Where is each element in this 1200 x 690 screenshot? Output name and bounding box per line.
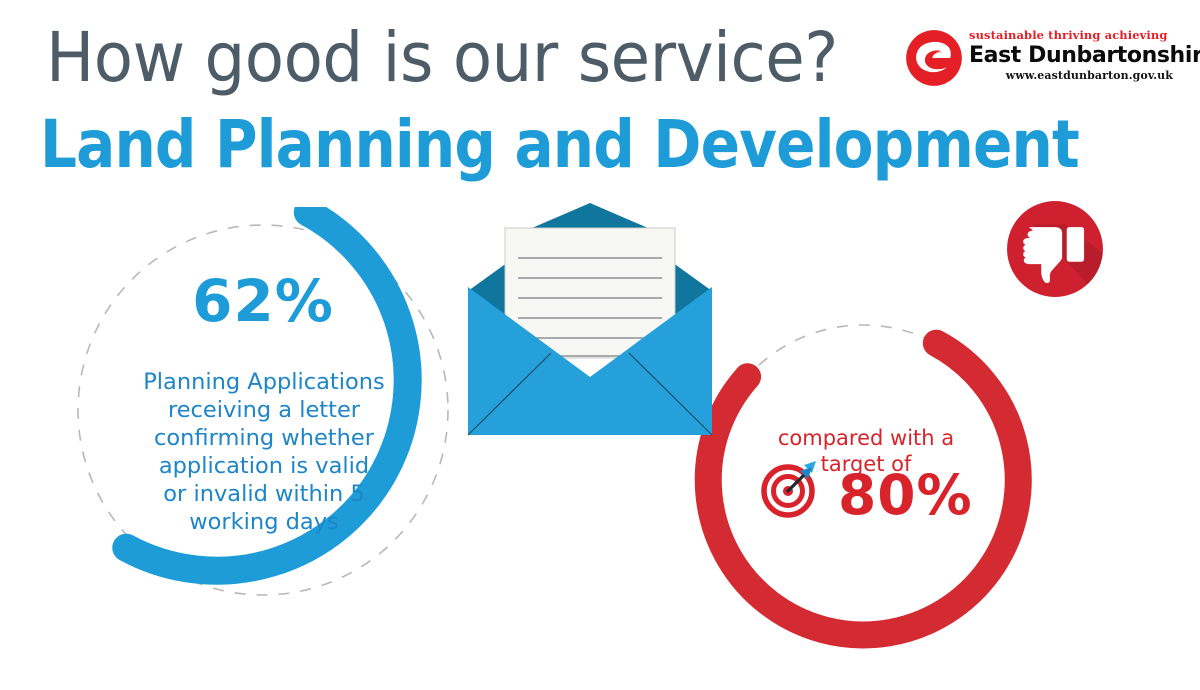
logo-council-name: East Dunbartonshire Council	[969, 43, 1200, 68]
gauge-left-percent: 62%	[110, 272, 416, 330]
open-envelope-with-letter-icon	[455, 195, 725, 465]
compare-line: compared with a	[752, 425, 980, 451]
logo-tagline: sustainable thriving achieving	[969, 28, 1168, 42]
dartboard-with-dart-icon	[760, 457, 822, 519]
gauge-right-percent: 80%	[838, 468, 988, 523]
desc-line: receiving a letter	[120, 396, 408, 424]
desc-line: Planning Applications	[120, 368, 408, 396]
desc-line: working days	[120, 508, 408, 536]
infographic-canvas: How good is our service? Land Planning a…	[0, 0, 1200, 690]
council-logo: sustainable thriving achieving East Dunb…	[905, 26, 1173, 88]
thumbs-down-icon	[1004, 198, 1106, 300]
logo-website-url: www.eastdunbarton.gov.uk	[969, 69, 1173, 82]
page-subtitle: Land Planning and Development	[40, 112, 1079, 178]
east-dunbartonshire-e-logomark-icon	[905, 29, 963, 87]
desc-line: or invalid within 5	[120, 480, 408, 508]
gauge-left-description: Planning Applications receiving a letter…	[120, 368, 408, 536]
desc-line: confirming whether	[120, 424, 408, 452]
desc-line: application is valid	[120, 452, 408, 480]
page-title: How good is our service?	[46, 24, 838, 93]
